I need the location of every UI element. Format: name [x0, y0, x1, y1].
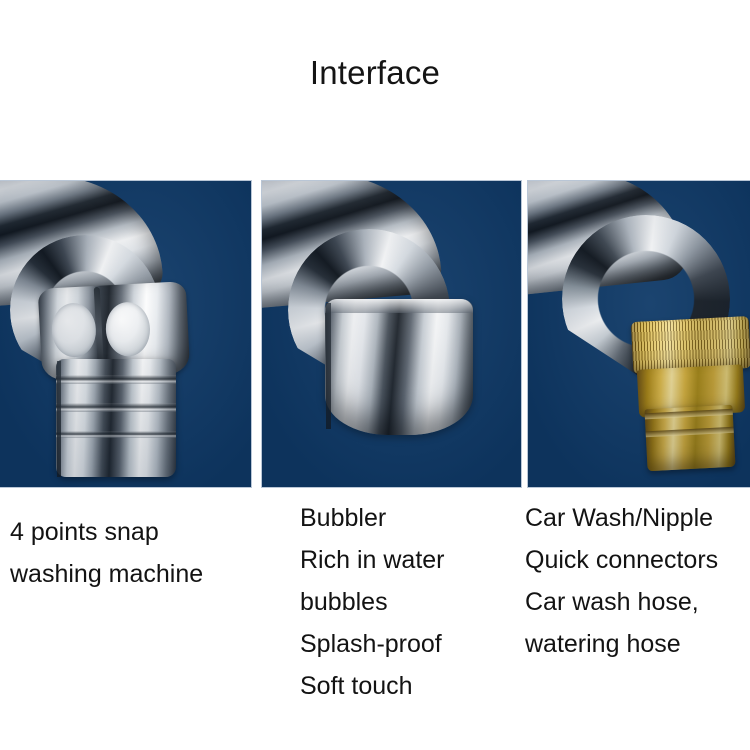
barrel-ring	[56, 431, 176, 438]
caption-line: bubbles	[300, 581, 515, 623]
panel-row	[0, 180, 750, 488]
faucet-4-point-snap-illustration	[0, 181, 251, 487]
connector-barrel	[56, 359, 176, 477]
snap-dimple	[105, 301, 152, 357]
caption-line: Car Wash/Nipple	[525, 497, 750, 539]
bubbler-cap	[325, 299, 473, 435]
brass-nipple-tip	[644, 405, 735, 472]
brass-groove	[646, 427, 734, 438]
caption-line: 4 points snap	[10, 511, 255, 553]
caption-line: Car wash hose,	[525, 581, 750, 623]
caption-line: Bubbler	[300, 497, 515, 539]
caption-line: Splash-proof	[300, 623, 515, 665]
caption-column-1: 4 points snap washing machine	[10, 488, 255, 595]
page-title: Interface	[0, 54, 750, 92]
caption-column-2: Bubbler Rich in water bubbles Splash-pro…	[300, 488, 515, 707]
product-interface-graphic: Interface	[0, 0, 750, 750]
caption-line: washing machine	[10, 553, 255, 595]
snap-dimple	[51, 302, 98, 358]
barrel-seam	[57, 361, 61, 477]
caption-line: watering hose	[525, 623, 750, 665]
barrel-ring	[56, 403, 176, 412]
caption-column-3: Car Wash/Nipple Quick connectors Car was…	[525, 488, 750, 665]
caption-line: Rich in water	[300, 539, 515, 581]
caption-line: Quick connectors	[525, 539, 750, 581]
faucet-brass-connector-illustration	[528, 181, 750, 487]
bubbler-cap-lip	[325, 299, 473, 313]
product-image-panel-3	[527, 180, 750, 488]
brass-groove	[645, 409, 733, 420]
caption-line: Soft touch	[300, 665, 515, 707]
faucet-bubbler-illustration	[262, 181, 521, 487]
brand-emblem-icon	[527, 187, 529, 235]
caption-row: 4 points snap washing machine Bubbler Ri…	[0, 488, 750, 750]
product-image-panel-1	[0, 180, 252, 488]
barrel-ring	[56, 375, 176, 384]
product-image-panel-2	[261, 180, 522, 488]
bubbler-seam	[326, 303, 331, 429]
